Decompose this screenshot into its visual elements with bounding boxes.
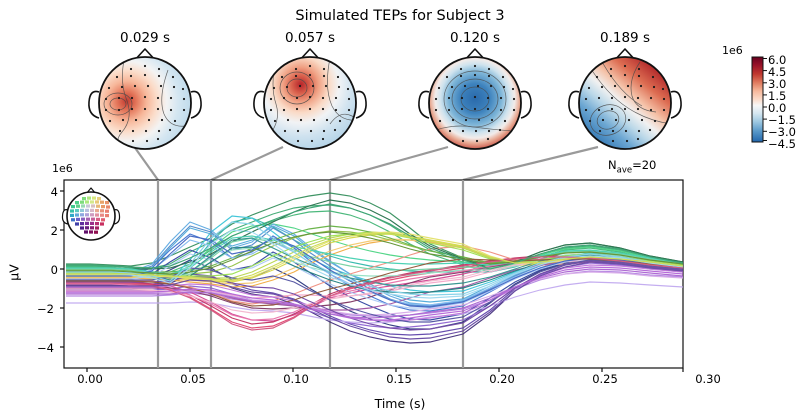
topomap-connector-lines (133, 145, 598, 180)
connector-3 (330, 147, 448, 180)
connector-2 (211, 147, 283, 180)
butterfly-plot-axes (60, 180, 683, 372)
topomap-3 (419, 49, 531, 149)
figure-svg (0, 0, 800, 420)
topomap-4 (569, 49, 681, 149)
connector-4 (463, 147, 598, 180)
colorbar (752, 57, 767, 142)
connector-1 (133, 145, 158, 180)
colorbar-ticks (763, 59, 767, 141)
topomap-1 (89, 49, 201, 152)
figure-canvas: Simulated TEPs for Subject 3 0.029 s 0.0… (0, 0, 800, 420)
topomap-2 (254, 49, 366, 149)
